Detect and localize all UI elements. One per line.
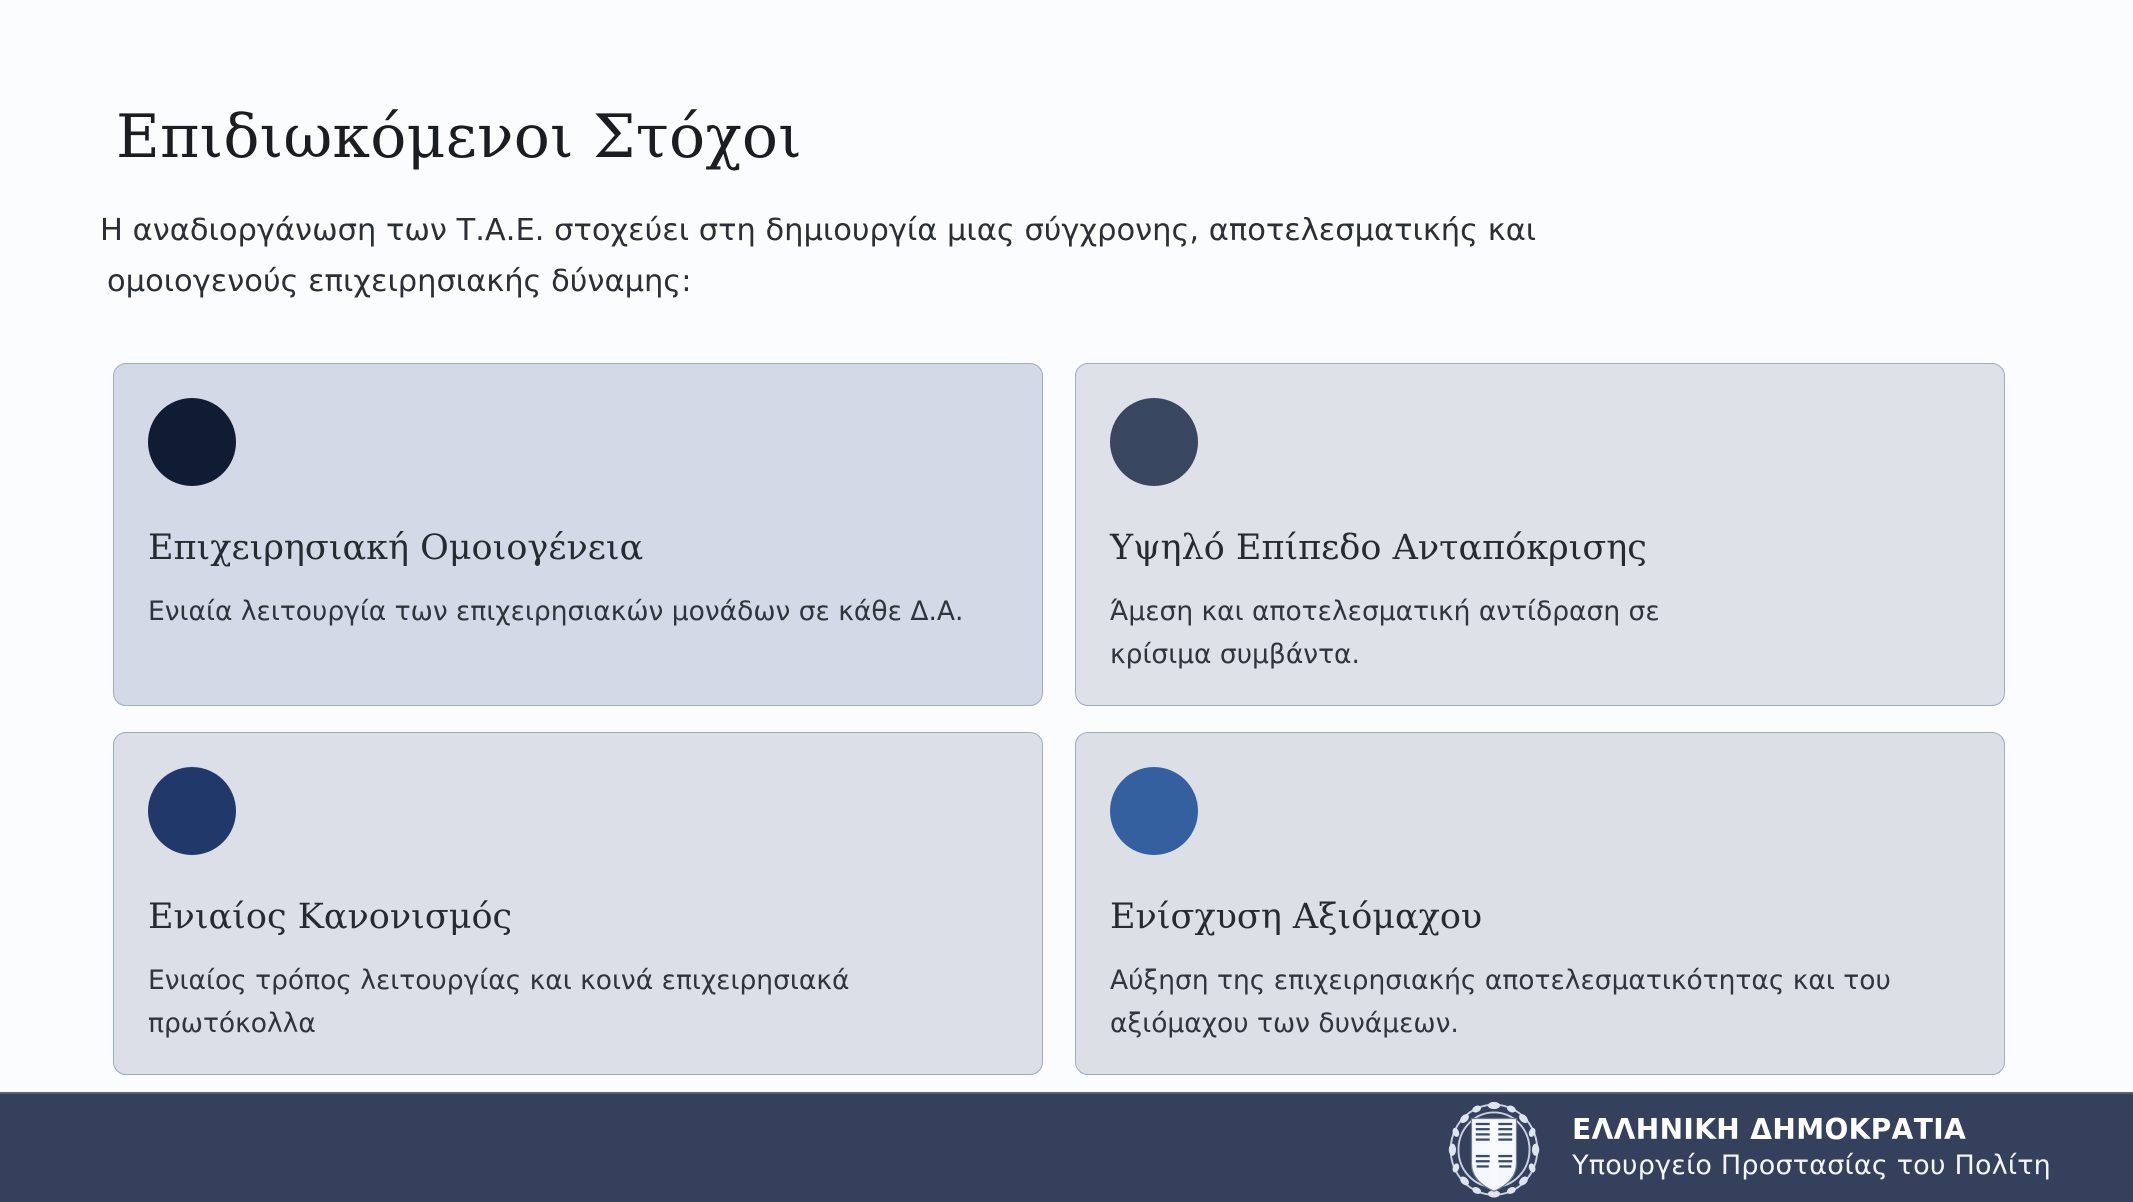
page-title: Επιδιωκόμενοι Στόχοι [116,102,802,172]
footer-brand: ΕΛΛΗΝΙΚΗ ΔΗΜΟΚΡΑΤΙΑ Υπουργείο Προστασίας… [1442,1096,2133,1200]
card-description: Άμεση και αποτελεσματική αντίδραση σε κρ… [1110,590,1750,676]
objective-card-operational-homogeneity[interactable]: Επιχειρησιακή Ομοιογένεια Ενιαία λειτουρ… [113,363,1043,706]
footer-organization: ΕΛΛΗΝΙΚΗ ΔΗΜΟΚΡΑΤΙΑ [1572,1113,2051,1147]
subtitle-line-1: Η αναδιοργάνωση των Τ.Α.Ε. στοχεύει στη … [100,213,1536,248]
card-description: Αύξηση της επιχειρησιακής αποτελεσματικό… [1110,959,1940,1045]
card-description: Ενιαίος τρόπος λειτουργίας και κοινά επι… [148,959,948,1045]
slide-root: Επιδιωκόμενοι Στόχοι Η αναδιοργάνωση των… [0,0,2133,1200]
card-title: Ενιαίος Κανονισμός [148,897,1008,937]
slide-subtitle: Η αναδιοργάνωση των Τ.Α.Ε. στοχεύει στη … [100,205,1820,307]
card-title: Ενίσχυση Αξιόμαχου [1110,897,1970,937]
card-title: Υψηλό Επίπεδο Ανταπόκρισης [1110,528,1970,568]
card-accent-dot-icon [148,398,236,486]
card-accent-dot-icon [1110,398,1198,486]
objective-card-unified-regulation[interactable]: Ενιαίος Κανονισμός Ενιαίος τρόπος λειτου… [113,732,1043,1075]
card-title: Επιχειρησιακή Ομοιογένεια [148,528,1008,568]
subtitle-line-2: ομοιογενούς επιχειρησιακής δύναμης: [100,256,1820,307]
objective-card-high-responsiveness[interactable]: Υψηλό Επίπεδο Ανταπόκρισης Άμεση και απο… [1075,363,2005,706]
objective-card-combat-readiness[interactable]: Ενίσχυση Αξιόμαχου Αύξηση της επιχειρησι… [1075,732,2005,1075]
card-accent-dot-icon [1110,767,1198,855]
card-accent-dot-icon [148,767,236,855]
footer-ministry: Υπουργείο Προστασίας του Πολίτη [1572,1150,2051,1183]
card-description: Ενιαία λειτουργία των επιχειρησιακών μον… [148,590,993,633]
footer-text-block: ΕΛΛΗΝΙΚΗ ΔΗΜΟΚΡΑΤΙΑ Υπουργείο Προστασίας… [1572,1113,2051,1183]
objectives-card-grid: Επιχειρησιακή Ομοιογένεια Ενιαία λειτουρ… [113,363,2020,1075]
footer-bar: ΕΛΛΗΝΙΚΗ ΔΗΜΟΚΡΑΤΙΑ Υπουργείο Προστασίας… [0,1092,2133,1202]
hellenic-republic-coat-of-arms-icon [1442,1096,1546,1200]
